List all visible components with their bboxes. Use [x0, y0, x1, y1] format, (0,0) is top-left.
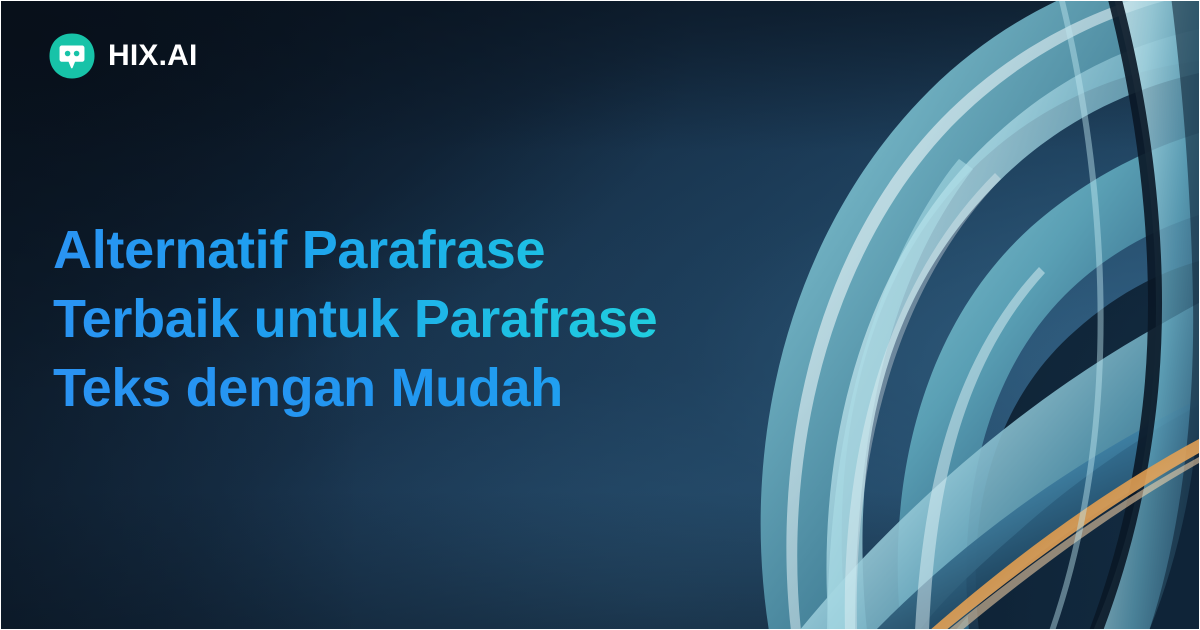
headline-line-3: Teks dengan Mudah: [53, 354, 753, 423]
headline-line-1: Alternatif Parafrase: [53, 216, 753, 285]
brand-logo[interactable]: HIX.AI: [49, 33, 198, 79]
brand-wordmark: HIX.AI: [108, 41, 198, 71]
hix-chat-bubble-icon: [49, 33, 95, 79]
banner-canvas: HIX.AI Alternatif Parafrase Terbaik untu…: [0, 0, 1200, 630]
abstract-swirl-artwork: [679, 1, 1199, 630]
headline-line-2: Terbaik untuk Parafrase: [53, 285, 753, 354]
headline: Alternatif Parafrase Terbaik untuk Paraf…: [53, 216, 753, 423]
